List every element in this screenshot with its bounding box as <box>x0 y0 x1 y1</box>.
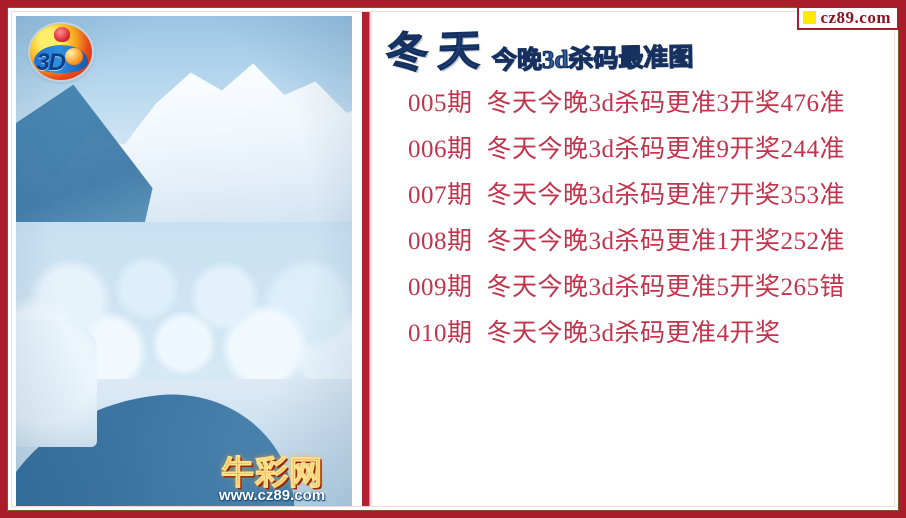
cz89-badge-text: cz89.com <box>820 9 891 26</box>
yellow-square-icon <box>803 11 816 24</box>
poster-inner-frame: 3D 牛彩网 www.cz89.com 冬天 今晚3d杀码最准图 005期 冬天… <box>11 11 895 507</box>
issue-number: 010期 <box>408 321 473 346</box>
issue-description: 冬天今晚3d杀码更准4开奖 <box>487 321 781 346</box>
list-item: 009期 冬天今晚3d杀码更准5开奖265错 <box>408 264 890 310</box>
issue-number: 006期 <box>408 137 473 162</box>
watermark-url-text: www.cz89.com <box>192 487 352 504</box>
logo-cap-shape <box>54 27 70 42</box>
3d-lottery-ball-logo: 3D <box>30 24 92 80</box>
list-item: 005期 冬天今晚3d杀码更准3开奖476准 <box>408 80 890 126</box>
issue-description: 冬天今晚3d杀码更准1开奖252准 <box>487 229 846 254</box>
issue-description: 冬天今晚3d杀码更准3开奖476准 <box>487 91 846 116</box>
issue-number: 009期 <box>408 275 473 300</box>
issue-number: 005期 <box>408 91 473 116</box>
issue-number: 007期 <box>408 183 473 208</box>
page-title: 冬天 <box>385 30 491 76</box>
list-item: 007期 冬天今晚3d杀码更准7开奖353准 <box>408 172 890 218</box>
page-subtitle: 今晚3d杀码最准图 <box>492 45 694 74</box>
logo-3d-text: 3D <box>36 49 65 77</box>
panel-divider <box>360 12 372 506</box>
content-panel: 冬天 今晚3d杀码最准图 005期 冬天今晚3d杀码更准3开奖476准 006期… <box>374 16 890 502</box>
photo-vignette <box>16 16 352 506</box>
issue-description: 冬天今晚3d杀码更准7开奖353准 <box>487 183 846 208</box>
issue-number: 008期 <box>408 229 473 254</box>
cz89-badge[interactable]: cz89.com <box>797 6 899 30</box>
winter-photo <box>16 16 352 506</box>
issue-description: 冬天今晚3d杀码更准5开奖265错 <box>487 275 846 300</box>
poster-root: 3D 牛彩网 www.cz89.com 冬天 今晚3d杀码最准图 005期 冬天… <box>0 0 906 518</box>
record-list: 005期 冬天今晚3d杀码更准3开奖476准 006期 冬天今晚3d杀码更准9开… <box>374 80 890 356</box>
list-item: 008期 冬天今晚3d杀码更准1开奖252准 <box>408 218 890 264</box>
list-item: 006期 冬天今晚3d杀码更准9开奖244准 <box>408 126 890 172</box>
winter-photo-panel: 3D 牛彩网 www.cz89.com <box>16 16 352 506</box>
watermark-brand-text: 牛彩网 <box>192 457 352 489</box>
site-watermark: 牛彩网 www.cz89.com <box>192 457 352 504</box>
list-item: 010期 冬天今晚3d杀码更准4开奖 <box>408 310 890 356</box>
issue-description: 冬天今晚3d杀码更准9开奖244准 <box>487 137 846 162</box>
